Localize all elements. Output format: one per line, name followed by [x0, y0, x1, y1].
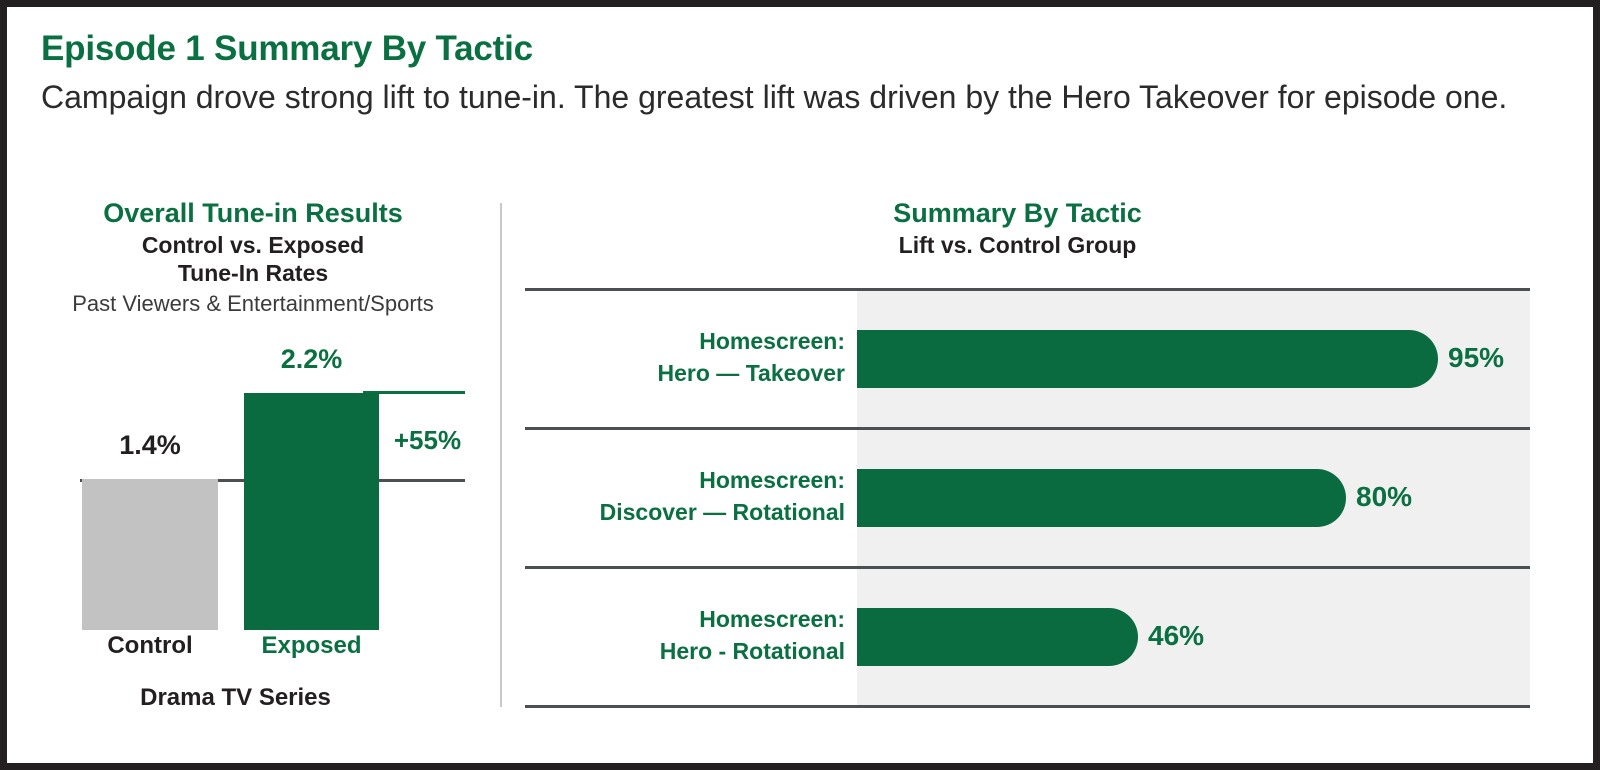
right-chart-row-label-line2: Hero - Rotational: [500, 635, 845, 667]
page-title: Episode 1 Summary By Tactic: [41, 29, 533, 69]
right-chart-row-label-line2: Discover — Rotational: [500, 496, 845, 528]
slide-canvas: Episode 1 Summary By Tactic Campaign dro…: [0, 0, 1600, 770]
right-chart-bar-value: 95%: [1448, 342, 1504, 374]
right-chart-row-label: Homescreen: Hero — Takeover: [500, 325, 845, 389]
left-chart-category-control: Control: [82, 632, 218, 660]
left-chart-lift-annotation: +55%: [380, 425, 475, 456]
right-chart-bar-value: 46%: [1148, 620, 1204, 652]
right-chart-subtitle: Lift vs. Control Group: [500, 232, 1535, 259]
right-chart-row: Homescreen: Hero — Takeover 95%: [500, 290, 1535, 429]
right-chart-row-label: Homescreen: Hero - Rotational: [500, 603, 845, 667]
page-subtitle: Campaign drove strong lift to tune-in. T…: [41, 76, 1511, 118]
right-chart-row-label: Homescreen: Discover — Rotational: [500, 464, 845, 528]
right-chart-row-label-line2: Hero — Takeover: [500, 357, 845, 389]
left-chart-bar-exposed: [244, 393, 379, 630]
left-chart-plot-area: 1.4% 2.2% +55% Control Exposed Drama TV …: [8, 198, 498, 718]
overall-tune-in-results-chart: Overall Tune-in Results Control vs. Expo…: [8, 198, 498, 718]
right-chart-bar-value: 80%: [1356, 481, 1412, 513]
right-chart-title: Summary By Tactic: [500, 198, 1535, 229]
left-chart-bar-control: [82, 479, 218, 630]
left-chart-value-exposed: 2.2%: [244, 344, 379, 375]
right-chart-row-label-line1: Homescreen:: [500, 464, 845, 496]
right-chart-bar: [857, 608, 1138, 666]
left-chart-axis-label: Drama TV Series: [8, 684, 463, 712]
left-chart-category-exposed: Exposed: [244, 632, 379, 660]
right-chart-bar: [857, 330, 1438, 388]
summary-by-tactic-chart: Summary By Tactic Lift vs. Control Group…: [500, 198, 1600, 718]
right-chart-row: Homescreen: Discover — Rotational 80%: [500, 429, 1535, 568]
right-chart-row-label-line1: Homescreen:: [500, 603, 845, 635]
right-chart-row-label-line1: Homescreen:: [500, 325, 845, 357]
left-chart-value-control: 1.4%: [82, 430, 218, 461]
right-chart-bar: [857, 469, 1346, 527]
right-chart-row: Homescreen: Hero - Rotational 46%: [500, 568, 1535, 707]
